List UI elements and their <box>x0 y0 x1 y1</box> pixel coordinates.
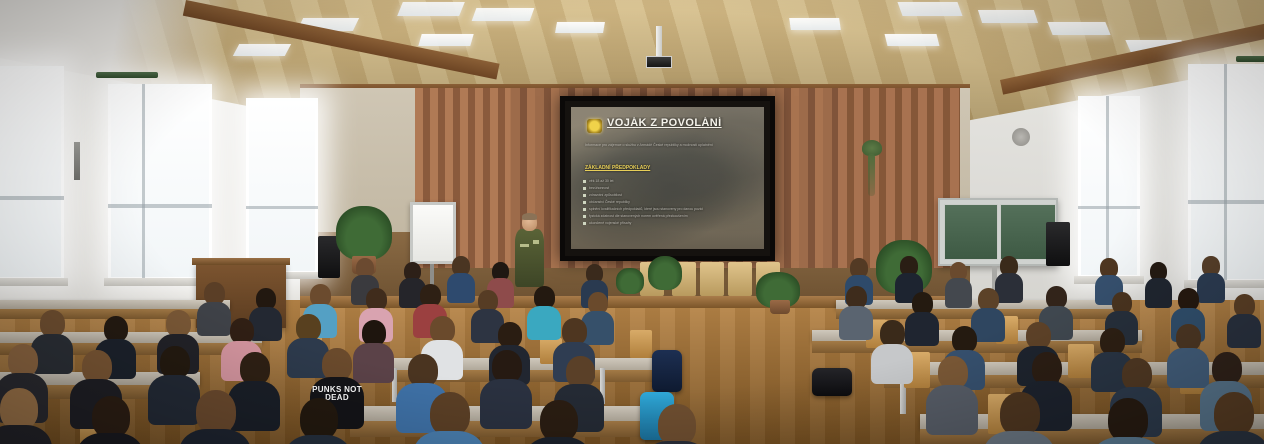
presenter-hair <box>522 213 537 220</box>
ceiling-light <box>418 34 473 46</box>
potted-plant <box>616 268 644 294</box>
chair <box>630 330 652 358</box>
flipchart-leg <box>430 264 434 286</box>
projector-mount <box>656 26 662 58</box>
ceiling-light <box>1047 22 1110 35</box>
loudspeaker-right <box>1046 222 1070 266</box>
ceiling-light <box>978 10 1038 23</box>
backpack <box>812 368 852 396</box>
army-emblem-icon <box>587 119 602 133</box>
ceiling-light <box>789 18 841 30</box>
presenter-uniform <box>515 229 544 287</box>
window-left-3 <box>246 98 318 274</box>
bullet-text: občanství České republiky <box>589 200 630 204</box>
bullet-marker-icon <box>583 201 586 204</box>
uniform-nametag <box>520 244 529 247</box>
bullet-marker-icon <box>583 194 586 197</box>
curtain-rail <box>1236 56 1264 62</box>
slide-title: VOJÁK Z POVOLÁNÍ <box>607 117 757 129</box>
window-right-1 <box>1078 96 1140 278</box>
potted-plant <box>648 256 682 290</box>
presentation-slide: VOJÁK Z POVOLÁNÍ Informace pro zájemce o… <box>571 107 764 249</box>
bullet-text: bezúhonnost <box>589 186 609 190</box>
bullet-text: splnění kvalifikačních předpokladů, kter… <box>589 207 703 211</box>
ceiling-light <box>885 34 940 46</box>
uniform-insignia <box>533 240 539 244</box>
chalkboard-panel-left <box>944 204 998 260</box>
potted-plant <box>336 206 392 260</box>
bullet-text: věk 18 až 30 let <box>589 179 614 183</box>
plant-pot <box>770 300 790 314</box>
curtain-rail <box>96 72 158 78</box>
window-sill <box>0 278 68 286</box>
slide-subtitle: Informace pro zájemce o službu v Armádě … <box>585 143 755 149</box>
wall-vent <box>1012 128 1030 146</box>
bullet-text: zdravotní způsobilost <box>589 193 622 197</box>
flipchart-board <box>410 202 456 264</box>
bullet-marker-icon <box>583 208 586 211</box>
bullet-marker-icon <box>583 187 586 190</box>
slide-bullet-list: věk 18 až 30 let bezúhonnost zdravotní z… <box>583 179 758 228</box>
slide-section-heading: ZÁKLADNÍ PŘEDPOKLADY <box>585 165 650 171</box>
ceiling-light <box>397 2 465 16</box>
bullet-marker-icon <box>583 180 586 183</box>
bullet-text: fyzická zdatnost dle stanovených norem o… <box>589 214 688 218</box>
window-left-2 <box>108 84 212 280</box>
ceiling-light <box>555 22 605 33</box>
ceiling-light <box>897 2 962 16</box>
chalkboard <box>938 198 1058 266</box>
projector <box>646 56 672 68</box>
window-left-1 <box>0 66 64 280</box>
lectern-top <box>192 258 290 265</box>
bullet-text: ukončené vojenské přísahy <box>589 221 631 225</box>
stage-chair <box>728 262 752 296</box>
bullet-marker-icon <box>583 215 586 218</box>
bullet-marker-icon <box>583 222 586 225</box>
ceiling-light <box>233 44 291 56</box>
backpack <box>652 350 682 392</box>
auditorium-photo: VOJÁK Z POVOLÁNÍ Informace pro zájemce o… <box>0 0 1264 444</box>
stage-chair <box>700 262 724 296</box>
ceiling-light <box>472 8 535 21</box>
hanging-plant-vine <box>868 154 875 196</box>
desk-row <box>0 300 230 309</box>
wall-hook <box>74 142 80 180</box>
